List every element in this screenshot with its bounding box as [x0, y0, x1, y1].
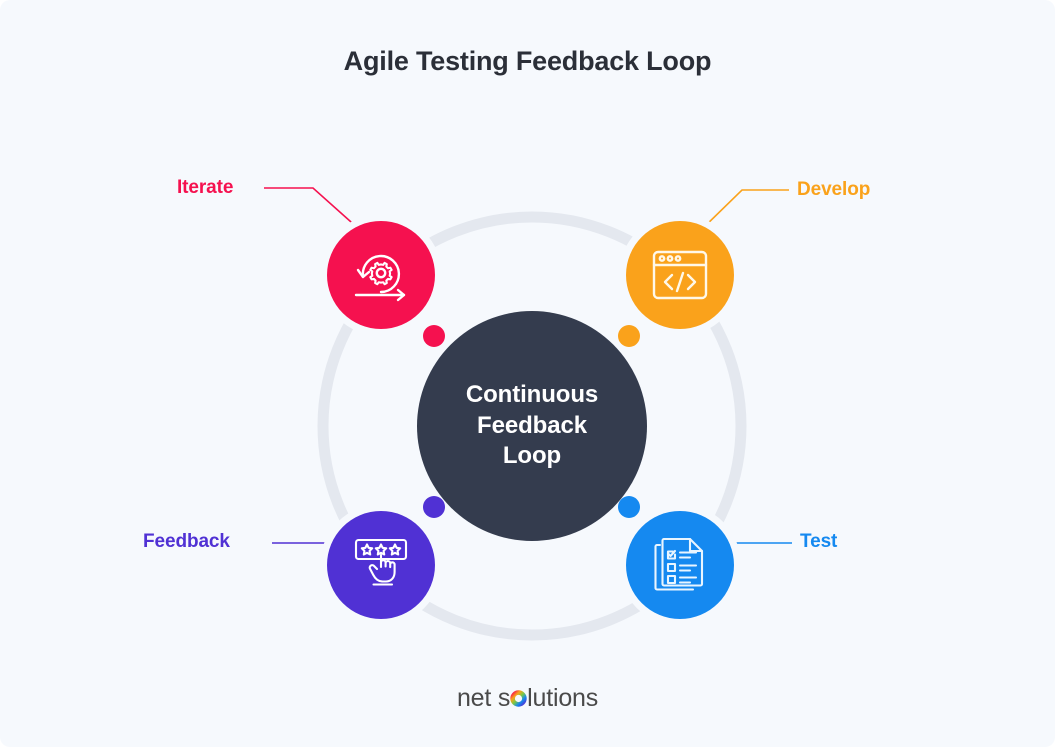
- connector-develop: [700, 190, 789, 231]
- node-label-develop: Develop: [797, 179, 870, 201]
- node-iterate[interactable]: [327, 221, 435, 329]
- node-feedback[interactable]: [327, 511, 435, 619]
- multicolor-ring-o-icon: [510, 687, 527, 712]
- agile-loop-gear-icon: [350, 246, 412, 304]
- infographic-canvas: Agile Testing Feedback Loop Continuous F…: [0, 0, 1055, 747]
- center-node: Continuous Feedback Loop: [417, 311, 647, 541]
- ring-dot-develop: [618, 325, 640, 347]
- ring-dot-iterate: [423, 325, 445, 347]
- node-label-test: Test: [800, 531, 837, 553]
- checklist-document-icon: [653, 536, 707, 594]
- brand-logo-text-part1: net s: [457, 684, 510, 712]
- ring-dot-feedback: [423, 496, 445, 518]
- node-label-iterate: Iterate: [177, 177, 233, 199]
- code-window-icon: [651, 249, 709, 301]
- brand-logo: net s lutions: [0, 685, 1055, 711]
- connector-iterate: [264, 188, 360, 230]
- node-test[interactable]: [626, 511, 734, 619]
- node-label-feedback: Feedback: [143, 531, 230, 553]
- star-rating-hand-icon: [351, 536, 411, 594]
- feedback-loop-diagram: Continuous Feedback Loop: [0, 0, 1055, 747]
- center-node-label: Continuous Feedback Loop: [466, 380, 598, 471]
- ring-dot-test: [618, 496, 640, 518]
- node-develop[interactable]: [626, 221, 734, 329]
- brand-logo-text-part2: lutions: [527, 684, 598, 712]
